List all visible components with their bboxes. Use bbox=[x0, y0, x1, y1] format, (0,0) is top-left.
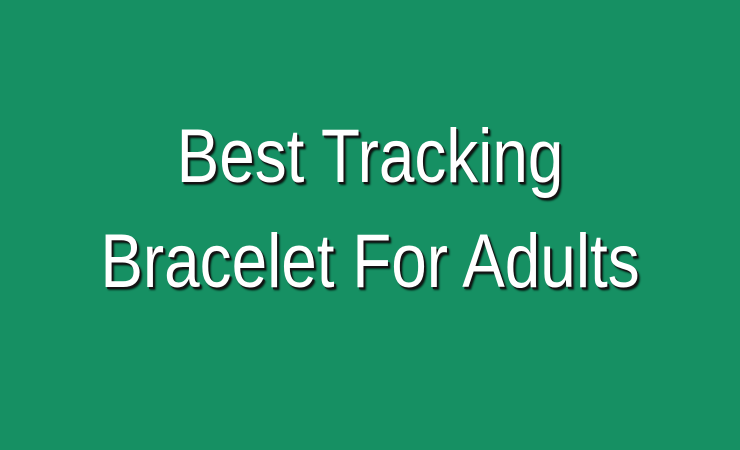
title-line-2: Bracelet For Adults bbox=[59, 209, 681, 314]
page-title: Best Tracking Bracelet For Adults bbox=[0, 104, 740, 346]
title-line-1: Best Tracking bbox=[59, 104, 681, 209]
title-banner: Best Tracking Bracelet For Adults bbox=[0, 0, 740, 450]
